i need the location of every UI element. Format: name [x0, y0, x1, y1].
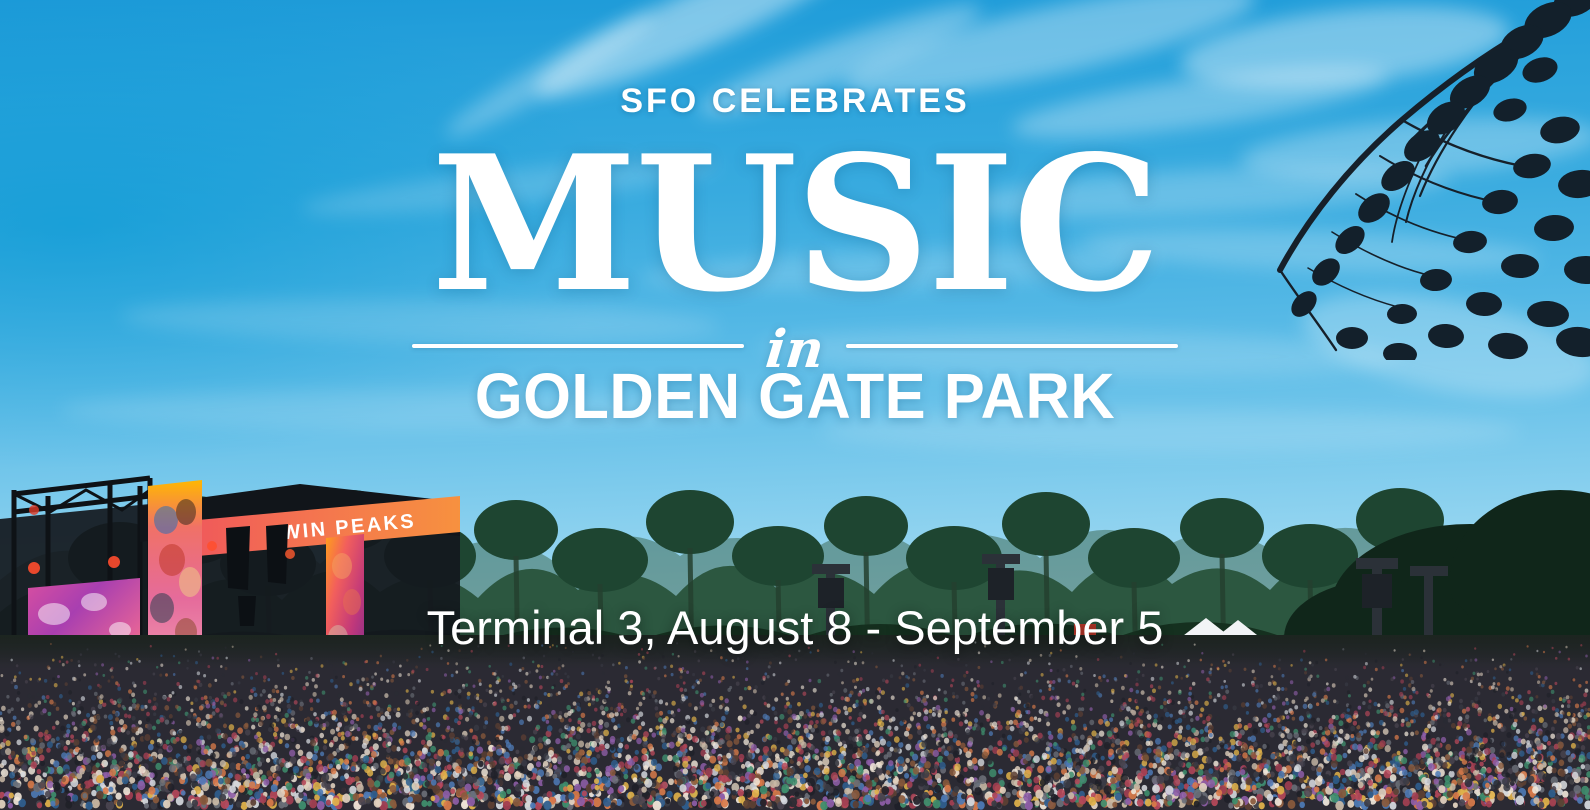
- event-date-location: Terminal 3, August 8 - September 5: [0, 604, 1590, 651]
- subtitle-text: GOLDEN GATE PARK: [32, 364, 1558, 428]
- headline-block: SFO CELEBRATES MUSIC in GOLDEN GATE PARK…: [0, 0, 1590, 810]
- eyebrow-text: SFO CELEBRATES: [0, 84, 1590, 118]
- divider-rule-right: [846, 344, 1178, 348]
- divider-rule-left: [412, 344, 744, 348]
- music-in-golden-gate-park-banner: TWIN PEAKS: [0, 0, 1590, 810]
- page-title: MUSIC: [0, 131, 1590, 317]
